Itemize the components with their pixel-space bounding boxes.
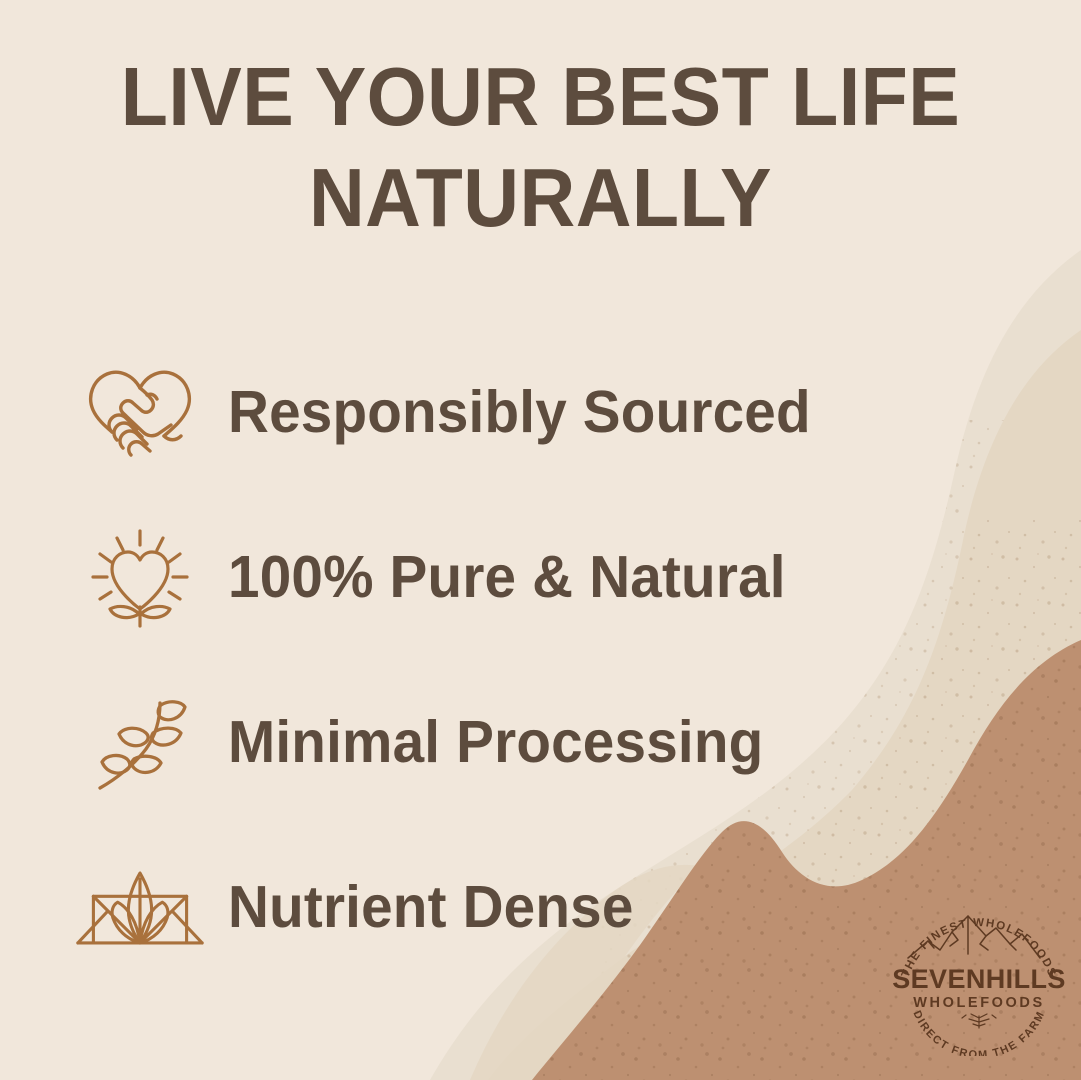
- feature-label-pure-natural: 100% Pure & Natural: [228, 548, 786, 607]
- promo-poster: LIVE YOUR BEST LIFE NATURALLY: [0, 0, 1081, 1080]
- page-title: LIVE YOUR BEST LIFE NATURALLY: [0, 46, 1081, 249]
- headline-line-1: LIVE YOUR BEST LIFE: [38, 46, 1043, 147]
- feature-label-responsibly-sourced: Responsibly Sourced: [228, 383, 811, 442]
- sevenhills-wholefoods-logo: THE FINEST WHOLEFOODS SEVENHILLS WHOLEFO…: [888, 896, 1070, 1056]
- heart-handshake-icon: [74, 362, 206, 464]
- lotus-mandala-icon: [74, 864, 206, 952]
- logo-brand-sub: WHOLEFOODS: [913, 995, 1045, 1011]
- logo-brand-name: SEVENHILLS: [892, 964, 1066, 994]
- feature-label-minimal-processing: Minimal Processing: [228, 713, 763, 772]
- feature-label-nutrient-dense: Nutrient Dense: [228, 878, 634, 937]
- feature-item-minimal-processing: Minimal Processing: [0, 660, 1081, 825]
- feature-item-pure-natural: 100% Pure & Natural: [0, 495, 1081, 660]
- leaf-branch-icon: [74, 689, 206, 797]
- feature-list: Responsibly Sourced: [0, 330, 1081, 990]
- headline-line-2: NATURALLY: [38, 147, 1043, 248]
- feature-item-responsibly-sourced: Responsibly Sourced: [0, 330, 1081, 495]
- heart-flower-sun-icon: [74, 525, 206, 631]
